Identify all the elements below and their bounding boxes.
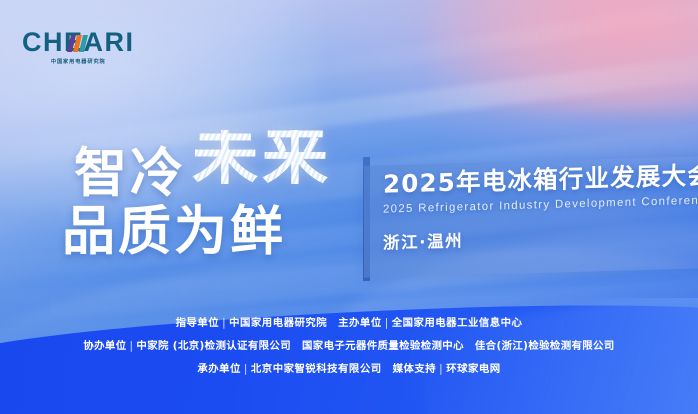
guidance-unit-value: 中国家用电器研究院 — [229, 317, 327, 329]
slash-accent-icon — [67, 35, 91, 52]
slogan-line1-frost: 未来 — [192, 130, 332, 184]
media-support-label: 媒体支持 — [393, 363, 437, 375]
sponsors-banner: 指导单位|中国家用电器研究院主办单位|全国家用电器工业信息中心 协办单位|中家院… — [0, 298, 698, 414]
sponsor-line-3: 承办单位|北京中家智锐科技有限公司媒体支持|环球家电网 — [0, 364, 698, 374]
sponsor-line-2: 协办单位|中家院 (北京)检测认证有限公司国家电子元器件质量检验检测中心佳合(浙… — [0, 341, 698, 351]
separator: | — [241, 363, 251, 375]
guidance-unit-label: 指导单位 — [176, 317, 220, 329]
coorganizer-label: 协办单位 — [83, 340, 126, 352]
host-unit-value: 全国家用电器工业信息中心 — [392, 317, 523, 329]
coorganizer-value-1: 中家院 (北京)检测认证有限公司 — [136, 340, 291, 352]
logo-wordmark-row: CHEARI — [22, 29, 135, 56]
main-slogan: 智冷 未来 品质为鲜 — [74, 148, 332, 258]
slogan-line-2: 品质为鲜 — [62, 206, 332, 258]
coorganizer-value-2: 国家电子元器件质量检验检测中心 — [302, 340, 464, 352]
separator: | — [219, 317, 229, 329]
host-unit-label: 主办单位 — [338, 317, 382, 329]
separator: | — [127, 340, 137, 352]
sponsors-lines: 指导单位|中国家用电器研究院主办单位|全国家用电器工业信息中心 协办单位|中家院… — [0, 318, 698, 374]
coorganizer-value-3: 佳合(浙江)检验检测有限公司 — [475, 340, 615, 352]
conference-poster: CHEARI 中国家用电器研究院 智冷 未来 品质为鲜 2025年电冰箱行业发展… — [0, 0, 698, 414]
slogan-line-1: 智冷 未来 — [74, 148, 332, 200]
organizer-value: 北京中家智锐科技有限公司 — [251, 363, 382, 375]
title-panel-content: 2025年电冰箱行业发展大会 2025 Refrigerator Industr… — [383, 161, 698, 253]
sponsor-line-1: 指导单位|中国家用电器研究院主办单位|全国家用电器工业信息中心 — [0, 318, 698, 328]
slogan-line1-plain: 智冷 — [74, 148, 186, 200]
separator: | — [436, 363, 446, 375]
organizer-label: 承办单位 — [197, 363, 241, 375]
separator: | — [382, 317, 392, 329]
cheari-logo: CHEARI 中国家用电器研究院 — [22, 29, 135, 65]
media-support-value: 环球家电网 — [446, 363, 500, 375]
logo-subtitle: 中国家用电器研究院 — [22, 58, 135, 65]
